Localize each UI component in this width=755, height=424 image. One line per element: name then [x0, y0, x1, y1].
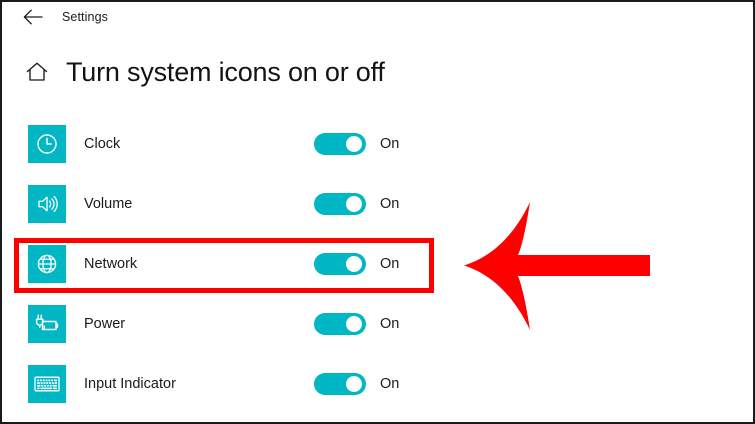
- volume-icon: [28, 185, 66, 223]
- keyboard-icon: [28, 365, 66, 403]
- home-glyph-icon: [25, 61, 49, 83]
- toggle-knob: [346, 256, 362, 272]
- setting-label: Clock: [84, 136, 314, 152]
- page-title: Turn system icons on or off: [66, 57, 385, 88]
- toggle-switch-clock[interactable]: [314, 133, 366, 155]
- setting-label: Volume: [84, 196, 314, 212]
- system-icons-list: Clock On Volume On: [2, 114, 753, 414]
- toggle-knob: [346, 316, 362, 332]
- title-bar: Settings: [2, 2, 753, 32]
- back-button[interactable]: [16, 4, 50, 30]
- table-row[interactable]: Volume On: [2, 174, 753, 234]
- toggle-state-label: On: [380, 196, 399, 212]
- app-title: Settings: [62, 10, 108, 24]
- toggle-knob: [346, 136, 362, 152]
- toggle-knob: [346, 196, 362, 212]
- table-row[interactable]: Network On: [2, 234, 753, 294]
- clock-icon: [28, 125, 66, 163]
- toggle-state-label: On: [380, 376, 399, 392]
- back-arrow-icon: [22, 8, 44, 26]
- toggle-switch-input-indicator[interactable]: [314, 373, 366, 395]
- network-globe-icon: [28, 245, 66, 283]
- toggle-state-label: On: [380, 136, 399, 152]
- table-row[interactable]: Clock On: [2, 114, 753, 174]
- home-icon[interactable]: [22, 57, 52, 87]
- toggle-knob: [346, 376, 362, 392]
- page-heading: Turn system icons on or off: [2, 50, 753, 94]
- toggle-state-label: On: [380, 256, 399, 272]
- toggle-switch-network[interactable]: [314, 253, 366, 275]
- table-row[interactable]: Input Indicator On: [2, 354, 753, 414]
- table-row[interactable]: Power On: [2, 294, 753, 354]
- settings-window: Settings Turn system icons on or off Clo…: [0, 0, 755, 424]
- setting-label: Network: [84, 256, 314, 272]
- setting-label: Power: [84, 316, 314, 332]
- setting-label: Input Indicator: [84, 376, 314, 392]
- toggle-switch-power[interactable]: [314, 313, 366, 335]
- toggle-switch-volume[interactable]: [314, 193, 366, 215]
- toggle-state-label: On: [380, 316, 399, 332]
- power-battery-icon: [28, 305, 66, 343]
